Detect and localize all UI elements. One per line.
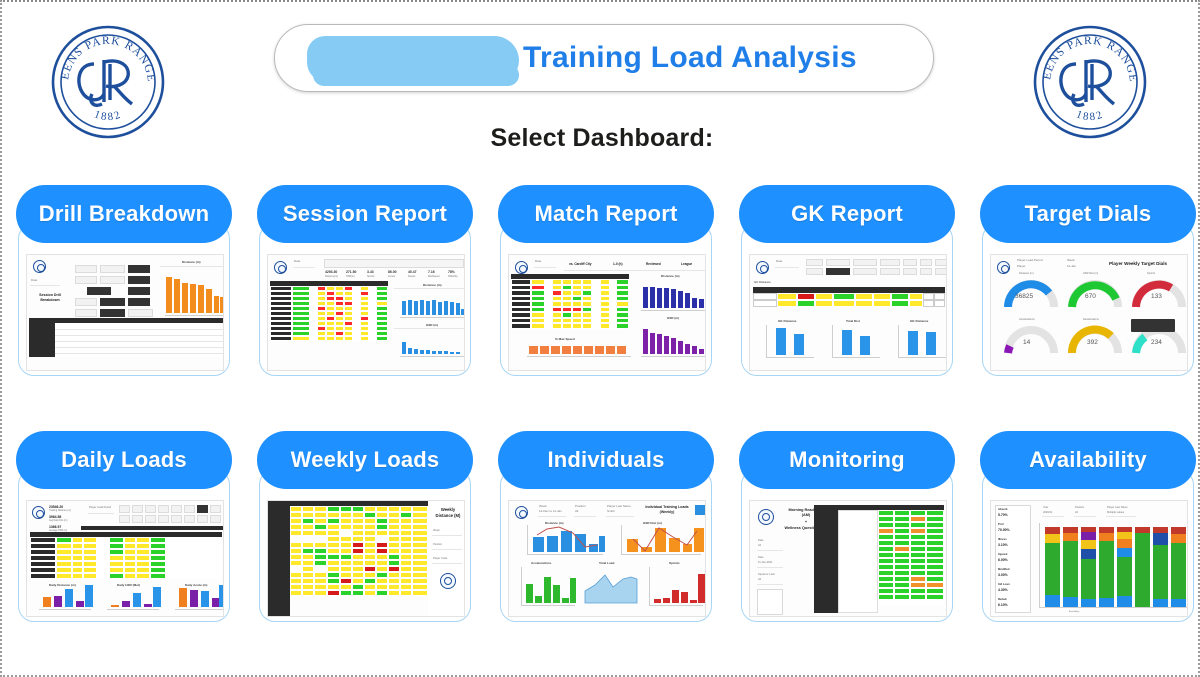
thumb-heading: Individual Training Loads (Weekly) [643,505,691,515]
dashboard-card-session-report[interactable]: Session Report Date 4293.30 271.50 3.43 … [251,185,479,431]
kpi-label-3: Injured [998,553,1007,557]
thumb-crest-icon [33,260,46,273]
dashboard-card-daily-loads[interactable]: Daily Loads 23546.20 Training Distance (… [10,431,238,677]
gauge-label-sprints: Sprints [1147,272,1155,275]
thumb-chart-title: Distance (m) [423,283,442,287]
dashboard-thumbnail-match-report[interactable]: Date vs. Cardiff City 1-0 (h) Reviewed L… [500,223,712,376]
thumb-crest-icon [274,261,287,274]
slide-canvas: QUEENS PARK RANGERS 1882 [0,0,1200,677]
kpi-label-2: Illness [998,538,1007,542]
dashboard-button-availability[interactable]: Availability [980,431,1196,489]
dashboard-card-target-dials[interactable]: Target Dials Player Load Period Player W… [974,185,1200,431]
kpi-label-5: Intl Loan [998,583,1010,587]
kpi-value-5: 4.30% [998,588,1008,593]
thumb-heatmap [30,537,222,579]
thumb-filter-week: Week [433,529,440,532]
dashboard-card-drill-breakdown[interactable]: Drill Breakdown Date Session Drill Break… [10,185,238,431]
stacked-bar [1153,527,1168,607]
stacked-bar [1081,527,1096,607]
dashboard-card-availability[interactable]: Availability Absent 5.70% Prof 70.00% Il… [974,431,1200,677]
thumb-filter-status: Reviewed [646,262,661,266]
thumb-chart-title-distance: Distance (m) [661,274,680,278]
thumb-area-chart [583,567,639,605]
page-title-pill: Training Load Analysis [274,24,934,92]
dashboard-thumbnail-gk-report[interactable]: Date [741,223,953,376]
thumb-green-matrix [878,510,944,606]
thumb-crest-icon [997,261,1010,274]
thumb-chart-title-accels: Accelerations [531,561,551,565]
thumb-chart-title-2: Daily HSR (Met) [117,583,140,587]
thumb-chart-title-maxspeed: % Max Speed [555,337,575,341]
kpi-value-0: 5.70% [998,513,1008,518]
stacked-bar [1045,527,1060,607]
dashboard-button-individuals[interactable]: Individuals [498,431,714,489]
thumb-crest-icon [440,573,456,589]
dashboard-thumbnail-target-dials[interactable]: Player Load Period Player Week 11-Jan Pl… [982,223,1194,376]
stacked-bar [1117,527,1132,607]
thumb-chart-title: Distance (m) [182,260,201,264]
thumb-heatmap [270,286,388,341]
thumb-crest-icon [32,506,45,519]
dashboard-thumbnail-session-report[interactable]: Date 4293.30 271.50 3.43 86.00 40.47 7.1… [259,223,471,376]
kpi-value-1: 70.00% [998,528,1010,533]
thumb-filter-comp: League [681,262,692,266]
kpi-value-6: 6.10% [998,603,1008,608]
dashboard-button-monitoring[interactable]: Monitoring [739,431,955,489]
thumb-heading: Player Weekly Target Dials [1109,261,1167,267]
stacked-bar [1171,527,1186,607]
gauge-label-decelerations: Decelerations [1083,318,1099,321]
thumb-filter-label: Date [31,279,37,283]
dashboard-card-weekly-loads[interactable]: Weekly Loads [251,431,479,677]
thumb-filter-opponent: vs. Cardiff City [569,262,592,266]
thumb-heading: Session Drill Breakdown [33,293,67,303]
gauge-label-hsr: HSR Dist (m) [1083,272,1098,275]
select-dashboard-heading: Select Dashboard: [2,124,1200,153]
dashboard-button-session-report[interactable]: Session Report [257,185,473,243]
gauge-value-sprint-distance: 234 [1151,339,1162,346]
dashboard-card-gk-report[interactable]: GK Report Date [733,185,961,431]
thumb-heatmap [753,293,945,307]
thumb-filter-label: Date [294,260,300,264]
gauge-value-decelerations: 392 [1087,339,1098,346]
thumb-heading: Weekly Distance (M) [432,507,464,519]
dashboard-thumbnail-monitoring[interactable]: Morning Readiness (AM) + Wellness Questi… [741,469,953,622]
dashboard-thumbnail-daily-loads[interactable]: 23546.20 Training Distance (m) 3964.58 A… [18,469,230,622]
thumb-crest-icon [758,509,774,525]
dashboard-button-target-dials[interactable]: Target Dials [980,185,1196,243]
redacted-title-block [307,36,519,82]
svg-text:1882: 1882 [92,108,123,123]
thumb-crest-icon [515,506,528,519]
stacked-bar [1099,527,1114,607]
dashboard-button-match-report[interactable]: Match Report [498,185,714,243]
thumb-crest-icon [515,261,528,274]
thumb-section-label: GK Distance [754,281,771,285]
kpi-label-6: Rehab [998,598,1007,602]
kpi-value-2: 3.10% [998,543,1008,548]
thumb-filter-score: 1-0 (h) [613,262,623,266]
thumb-chart-title-1: Daily Distance (m) [49,583,76,587]
dashboard-thumbnail-individuals[interactable]: Week 14-Dec to 11-Jan Position All Playe… [500,469,712,622]
thumb-crest-icon [756,261,769,274]
kpi-value-3: 6.00% [998,558,1008,563]
gauge-accelerations [1003,321,1059,357]
gauge-label-accelerations: Accelerations [1019,318,1035,321]
thumb-filter-label: Date [776,260,782,264]
dashboard-button-weekly-loads[interactable]: Weekly Loads [257,431,473,489]
thumb-filter-label: Date [535,260,541,264]
thumb-heatmap [511,279,629,329]
gauge-value-hsr: 670 [1085,293,1096,300]
svg-text:1882: 1882 [1074,108,1105,123]
dashboard-card-monitoring[interactable]: Monitoring Morning Readiness (AM) + Well… [733,431,961,677]
kpi-label-1: Prof [998,523,1004,527]
dashboard-thumbnail-availability[interactable]: Absent 5.70% Prof 70.00% Illness 3.10% I… [982,469,1194,622]
dashboard-card-individuals[interactable]: Individuals Week 14-Dec to 11-Jan Positi… [492,431,720,677]
thumb-chart-title-sprints: Sprints [669,561,680,565]
thumb-heatmap [290,506,428,596]
gauge-label-distance: Distance (m) [1019,272,1034,275]
gauge-value-distance: 36825 [1015,293,1033,300]
gauge-value-accelerations: 14 [1023,339,1030,346]
stacked-bar [1135,527,1150,607]
gauge-value-sprints: 133 [1151,293,1162,300]
thumb-chart-title-hsr: HSR (m) [667,316,679,320]
kpi-label-4: Modified [998,568,1010,572]
dashboard-grid: Drill Breakdown Date Session Drill Break… [10,185,1200,677]
thumb-filter-player: Player Code [433,557,447,560]
kpi-value-4: 3.00% [998,573,1008,578]
dashboard-button-drill-breakdown[interactable]: Drill Breakdown [16,185,232,243]
page-title: Training Load Analysis [523,41,857,75]
thumb-chart-title-load: Total Load [599,561,614,565]
dashboard-button-daily-loads[interactable]: Daily Loads [16,431,232,489]
dashboard-thumbnail-drill-breakdown[interactable]: Date Session Drill Breakdown [18,223,230,376]
dashboard-button-gk-report[interactable]: GK Report [739,185,955,243]
dashboard-thumbnail-weekly-loads[interactable]: Weekly Distance (M) Week Position Player… [259,469,471,622]
kpi-label-0: Absent [998,508,1007,512]
dashboard-card-match-report[interactable]: Match Report Date vs. Cardiff City 1-0 (… [492,185,720,431]
stacked-bar [1063,527,1078,607]
thumb-filter-position: Position [433,543,442,546]
thumb-chart-title-3: Daily Acute (m) [185,583,207,587]
